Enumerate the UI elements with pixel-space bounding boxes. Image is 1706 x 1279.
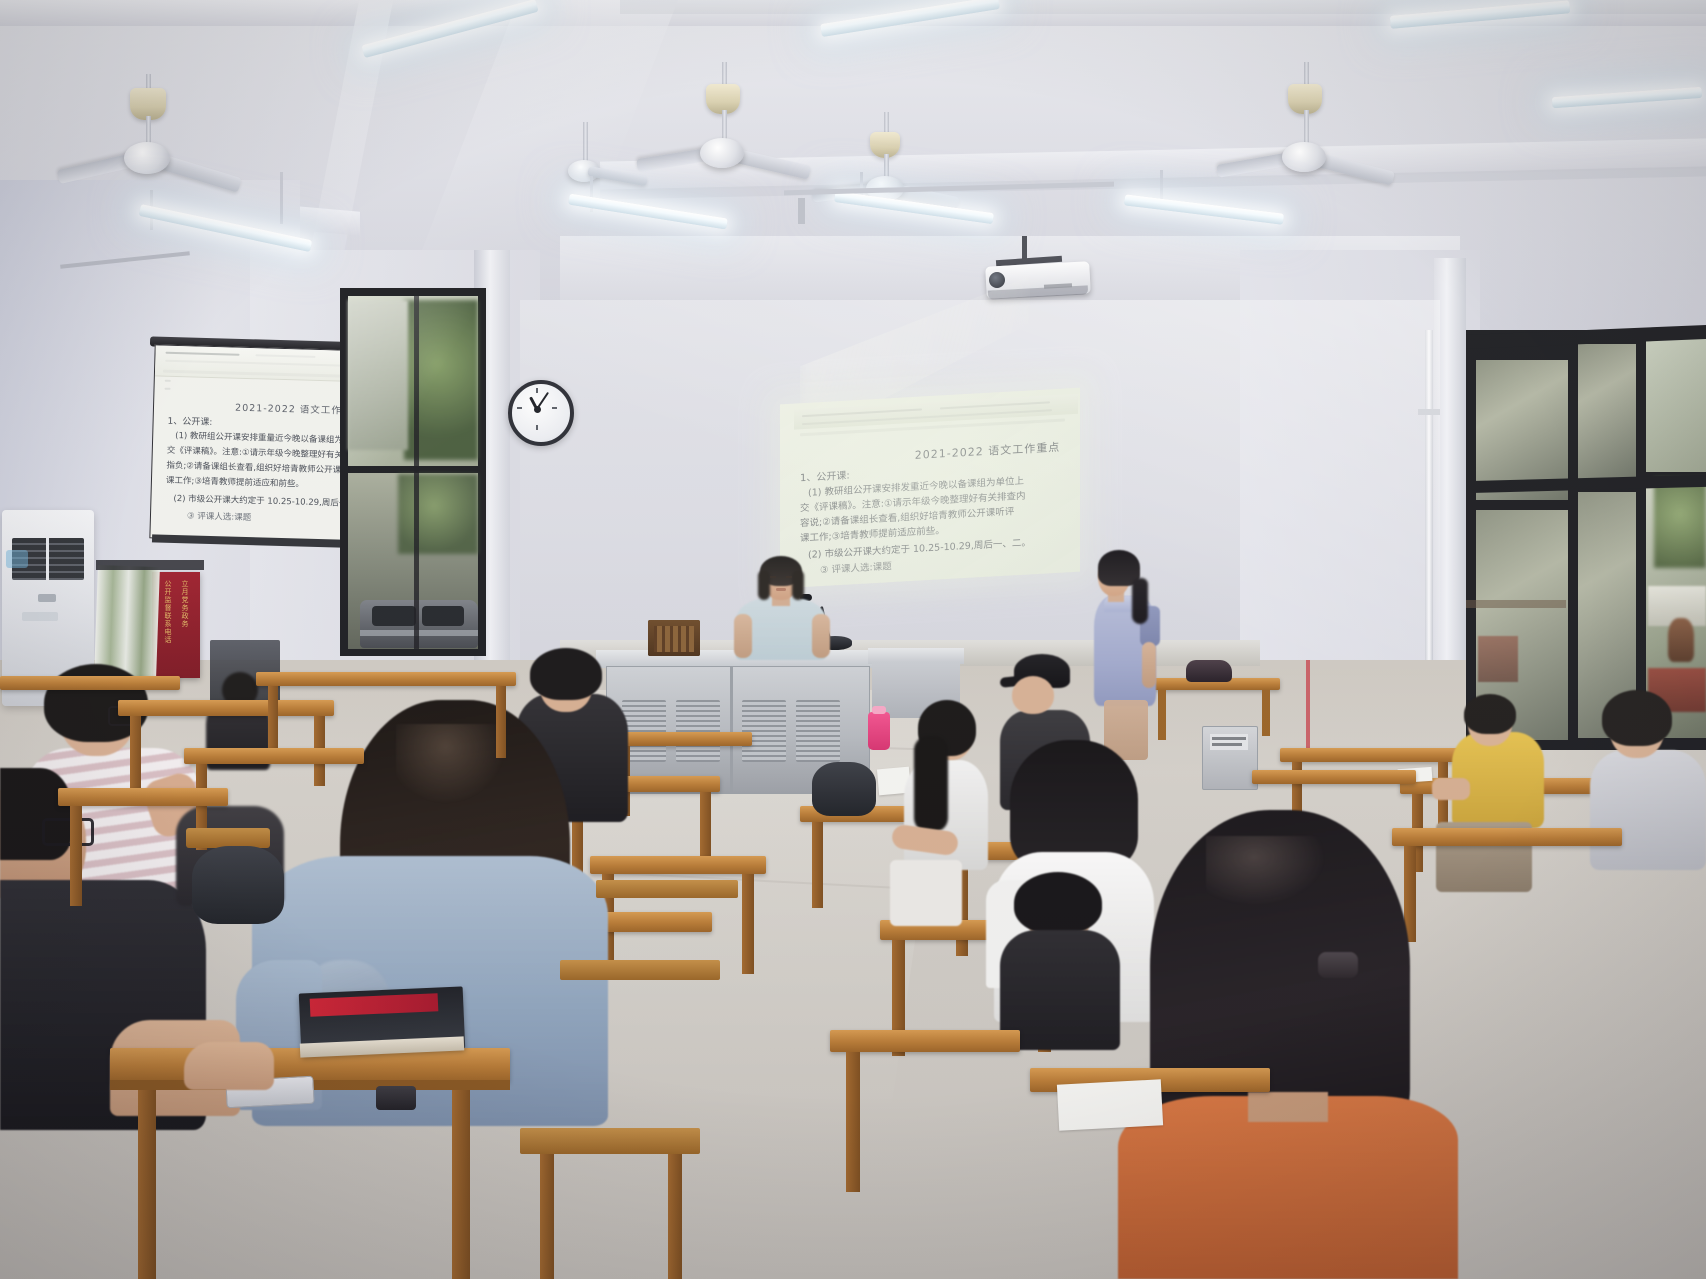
projected-slide-title: 2021-2022 语文工作重点 [900,438,1075,464]
lectern-seam [730,666,733,792]
speaker-arm-right [812,614,830,658]
desk-leg [130,716,141,790]
air-conditioner-logo [22,612,58,621]
clock-tick [536,388,538,393]
fan-hub [1282,142,1326,172]
light-rod [280,172,283,224]
outside-foliage-right [1654,478,1706,568]
screen-line-3: 指负;②请备课组长查看,组织好培青教师公开课听评 [166,459,358,476]
desk [58,788,228,806]
student-hair [1014,872,1102,934]
student-hair [1464,694,1516,734]
notice-box-text [1212,743,1242,746]
right-window-mullion [1568,336,1578,740]
fan-hub [700,138,744,168]
classroom-photo: 2021-2022 语文工作重点 1、公开课: (1) 教研组公开课安排发重近今… [0,0,1706,1279]
desk [184,748,364,764]
desk [0,676,180,690]
desk [256,672,516,686]
right-red-box [1478,636,1518,682]
desk [1392,828,1622,846]
outside-foliage-lower [398,474,478,554]
right-window-pane [1644,336,1706,472]
lectern-vent [742,700,786,762]
folded-garment [1186,660,1232,682]
speaker-mouth [776,588,786,591]
hair-highlight [1206,836,1326,906]
fan-rod [583,122,588,162]
air-conditioner-display [38,594,56,602]
chair-seat [520,1128,700,1154]
clock-tick [552,407,557,409]
student-body-orange [1118,1096,1458,1279]
chair-leg [668,1154,682,1279]
banner-text-line-1: 立月党务政务 [180,580,189,660]
window-glare [348,296,478,466]
desk [610,732,752,746]
lectern-vent [676,700,720,762]
student-hand [184,1042,274,1090]
air-conditioner-sticker [6,550,28,568]
fan-rod [1304,110,1309,144]
screen-heading: 1、公开课: [167,414,212,428]
water-bottle [868,712,890,750]
screen-side-line [165,380,171,382]
desk-leg [70,806,82,906]
left-window-mullion [348,466,478,473]
chair-seat [596,880,738,898]
fan-rod [722,110,727,140]
keychain [376,1086,416,1110]
student-head [1012,676,1054,714]
screen-line-4: 课工作;③培青教师提前适应和前些。 [166,474,304,490]
student-hair [530,648,602,700]
desk [830,1030,1020,1052]
chair-back [186,828,270,848]
student-arm [1432,778,1470,800]
backpack [192,846,284,924]
bottle-cap [872,706,886,714]
outside-person [1668,618,1694,662]
hair-clip [1318,952,1358,978]
speaker-eye [786,576,792,578]
desk-leg [496,686,506,758]
hair-highlight [396,724,506,804]
student-hair-long [1010,740,1138,870]
projected-heading: 1、公开课: [800,466,850,484]
wall-clock [508,380,574,446]
fan-hub [124,142,170,174]
student-hair-long [914,736,948,832]
bench-leg [1158,690,1166,740]
right-window-mullion [1636,332,1646,740]
screen-line-6: ③ 评课人选:课题 [187,509,251,523]
projector-lens [989,272,1005,288]
teacher-chair-post [648,620,653,656]
projected-slide: 2021-2022 语文工作重点 1、公开课: (1) 教研组公开课安排发重近今… [780,388,1080,589]
screen-side-line [164,388,170,390]
screen-line-2: 交《评课稿》。注意:①请示年级今晚整理好有关排查 [167,444,361,461]
leaning-boards [94,565,160,679]
speaker-hair-side [758,570,770,600]
car-window [422,606,464,626]
air-conditioner-vent-divider [46,538,49,580]
speaker-eye [770,576,776,578]
student-glasses [42,818,94,846]
backpack [812,762,876,816]
bench-leg [1262,690,1270,736]
desk-leg [742,874,754,974]
desk [1280,748,1460,762]
desk-leg [452,1090,470,1279]
red-cord [1306,660,1310,756]
notice-box-text [1212,737,1246,740]
chair-seat [560,960,720,980]
clock-tick [517,407,522,409]
banner-text-line-2: 公开监督联系电话 [163,580,172,668]
speaker-hair-side [792,570,804,600]
boards-shadow [96,560,204,570]
student-hair [1602,690,1672,746]
desk-leg [846,1052,860,1192]
standing-teacher-ponytail [1132,578,1148,624]
student-body [1590,750,1706,870]
car-window [372,606,416,626]
fan-rod [884,154,889,178]
ceiling-hook [798,198,805,224]
lectern-vent [796,700,840,762]
chair-leg [540,1154,554,1279]
student-hair [0,768,72,860]
right-shelf [1466,600,1566,608]
teacher-chair-slats [654,626,694,652]
projected-line-6: ③ 评课人选:课题 [820,558,892,576]
right-window-pane [1576,344,1636,480]
student-neck [1248,1092,1328,1122]
desk [1252,770,1416,784]
clock-center [534,406,541,413]
desk [590,856,766,874]
desk-leg [138,1090,156,1279]
desk-leg [812,822,823,908]
desk [118,700,334,716]
standing-teacher-arm [1142,642,1156,688]
speaker-arm-left [734,614,752,658]
car-body-highlight [360,630,478,636]
clock-tick [536,425,538,430]
paper-sheet [1057,1079,1163,1130]
teacher-chair-post [695,620,700,656]
student-skirt [890,860,962,926]
